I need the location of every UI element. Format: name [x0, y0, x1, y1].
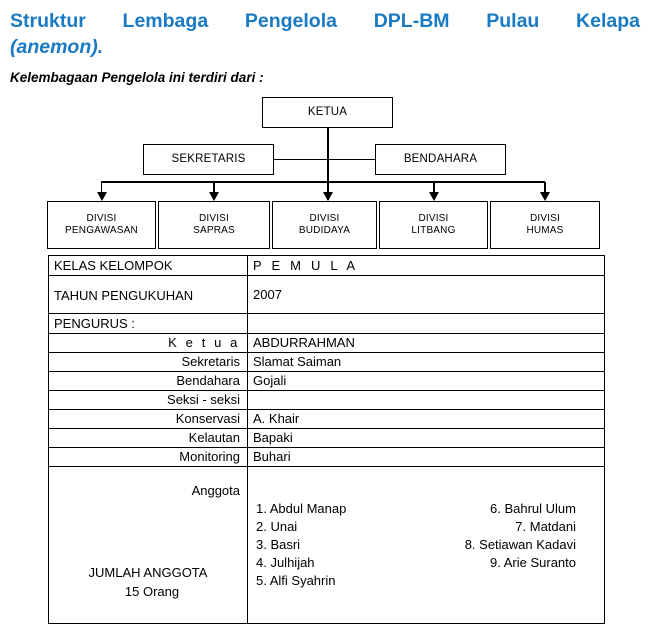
- row-label-tahun-pengukuhan: TAHUN PENGUKUHAN: [49, 276, 248, 314]
- list-item: 3. Basri: [256, 536, 346, 554]
- org-node-divisi-pengawasan-line2: PENGAWASAN: [65, 225, 138, 237]
- table-row-seksi-seksi: Seksi - seksi: [49, 391, 605, 410]
- row-value-kelautan: Bapaki: [248, 429, 605, 448]
- row-label-ketua: K e t u a: [49, 334, 248, 353]
- list-item: 7. Matdani: [406, 518, 576, 536]
- list-item: 6. Bahrul Ulum: [406, 500, 576, 518]
- connector-secretary-treasurer-horizontal: [274, 159, 375, 161]
- table-row-monitoring: Monitoring Buhari: [49, 448, 605, 467]
- member-list-column-1: 1. Abdul Manap 2. Unai 3. Basri 4. Julhi…: [256, 500, 346, 590]
- member-list: 1. Abdul Manap 2. Unai 3. Basri 4. Julhi…: [256, 500, 604, 600]
- arrow-down-icon-litbang: [429, 192, 439, 201]
- table-row-pengurus: PENGURUS :: [49, 314, 605, 334]
- table-row-kelas-kelompok: KELAS KELOMPOK P E M U L A: [49, 256, 605, 276]
- list-item: 2. Unai: [256, 518, 346, 536]
- row-value-konservasi: A. Khair: [248, 410, 605, 429]
- row-label-seksi-seksi: Seksi - seksi: [49, 391, 248, 410]
- row-label-sekretaris: Sekretaris: [49, 353, 248, 372]
- row-value-ketua: ABDURRAHMAN: [248, 334, 605, 353]
- org-node-divisi-litbang: DIVISI LITBANG: [379, 201, 488, 249]
- row-value-kelas-kelompok: P E M U L A: [248, 256, 605, 276]
- org-node-sekretaris: SEKRETARIS: [143, 144, 274, 175]
- org-node-divisi-pengawasan-line1: DIVISI: [65, 213, 138, 225]
- org-node-ketua-label: KETUA: [308, 106, 347, 119]
- member-list-column-2: 6. Bahrul Ulum 7. Matdani 8. Setiawan Ka…: [406, 500, 576, 572]
- table-row-bendahara: Bendahara Gojali: [49, 372, 605, 391]
- org-node-bendahara: BENDAHARA: [375, 144, 506, 175]
- org-node-ketua: KETUA: [262, 97, 393, 128]
- org-node-divisi-humas: DIVISI HUMAS: [490, 201, 600, 249]
- table-row-tahun-pengukuhan: TAHUN PENGUKUHAN 2007: [49, 276, 605, 314]
- jumlah-anggota-value: 15 Orang: [49, 582, 247, 601]
- list-item: 5. Alfi Syahrin: [256, 572, 346, 590]
- table-row-kelautan: Kelautan Bapaki: [49, 429, 605, 448]
- row-label-pengurus: PENGURUS :: [49, 314, 248, 334]
- org-node-divisi-sapras: DIVISI SAPRAS: [158, 201, 270, 249]
- org-node-divisi-budidaya-line2: BUDIDAYA: [299, 225, 350, 237]
- org-node-divisi-litbang-line1: DIVISI: [411, 213, 455, 225]
- row-label-anggota: Anggota: [192, 483, 240, 499]
- table-row-ketua: K e t u a ABDURRAHMAN: [49, 334, 605, 353]
- page-root: Struktur Lembaga Pengelola DPL-BM Pulau …: [0, 0, 647, 632]
- table-row-anggota: Anggota JUMLAH ANGGOTA 15 Orang 1. Abdul…: [49, 467, 605, 624]
- org-node-sekretaris-label: SEKRETARIS: [172, 153, 246, 166]
- org-node-divisi-sapras-line2: SAPRAS: [193, 225, 235, 237]
- row-label-kelautan: Kelautan: [49, 429, 248, 448]
- row-label-konservasi: Konservasi: [49, 410, 248, 429]
- org-node-divisi-pengawasan: DIVISI PENGAWASAN: [47, 201, 156, 249]
- row-value-tahun-pengukuhan: 2007: [248, 276, 605, 314]
- org-node-divisi-humas-line1: DIVISI: [526, 213, 563, 225]
- org-node-divisi-sapras-line1: DIVISI: [193, 213, 235, 225]
- connector-ketua-vertical: [327, 128, 329, 182]
- institution-info-table: KELAS KELOMPOK P E M U L A TAHUN PENGUKU…: [48, 255, 605, 624]
- row-value-pengurus: [248, 314, 605, 334]
- org-node-divisi-litbang-line2: LITBANG: [411, 225, 455, 237]
- row-label-kelas-kelompok: KELAS KELOMPOK: [49, 256, 248, 276]
- row-label-monitoring: Monitoring: [49, 448, 248, 467]
- row-value-bendahara: Gojali: [248, 372, 605, 391]
- list-item: 4. Julhijah: [256, 554, 346, 572]
- org-node-bendahara-label: BENDAHARA: [404, 153, 477, 166]
- org-chart: KETUA SEKRETARIS BENDAHARA DIVISI PENGAW…: [0, 0, 647, 252]
- jumlah-anggota-block: JUMLAH ANGGOTA 15 Orang: [49, 563, 247, 601]
- arrow-down-icon-pengawasan: [97, 192, 107, 201]
- list-item: 8. Setiawan Kadavi: [406, 536, 576, 554]
- list-item: 9. Arie Suranto: [406, 554, 576, 572]
- arrow-down-icon-sapras: [209, 192, 219, 201]
- org-node-divisi-humas-line2: HUMAS: [526, 225, 563, 237]
- list-item: 1. Abdul Manap: [256, 500, 346, 518]
- row-value-sekretaris: Slamat Saiman: [248, 353, 605, 372]
- arrow-down-icon-humas: [540, 192, 550, 201]
- connector-division-bus: [101, 181, 545, 183]
- row-label-bendahara: Bendahara: [49, 372, 248, 391]
- jumlah-anggota-label: JUMLAH ANGGOTA: [49, 563, 247, 582]
- row-label-anggota-cell: Anggota JUMLAH ANGGOTA 15 Orang: [49, 467, 248, 624]
- org-node-divisi-budidaya: DIVISI BUDIDAYA: [272, 201, 377, 249]
- table-row-sekretaris: Sekretaris Slamat Saiman: [49, 353, 605, 372]
- arrow-down-icon-budidaya: [323, 192, 333, 201]
- row-value-seksi-seksi: [248, 391, 605, 410]
- row-value-anggota-cell: 1. Abdul Manap 2. Unai 3. Basri 4. Julhi…: [248, 467, 605, 624]
- table-row-konservasi: Konservasi A. Khair: [49, 410, 605, 429]
- row-value-monitoring: Buhari: [248, 448, 605, 467]
- org-node-divisi-budidaya-line1: DIVISI: [299, 213, 350, 225]
